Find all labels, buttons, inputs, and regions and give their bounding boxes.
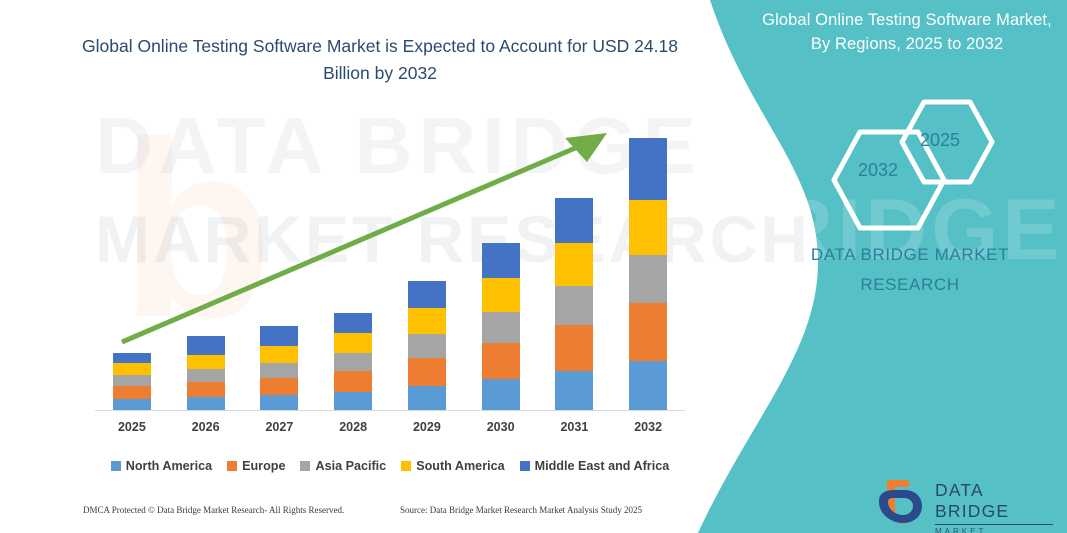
x-axis-label-2030: 2030 (471, 420, 531, 434)
bar-segment (187, 369, 225, 382)
x-axis-label-2025: 2025 (102, 420, 162, 434)
bar-segment (187, 336, 225, 355)
chart-legend: North AmericaEuropeAsia PacificSouth Ame… (95, 455, 685, 477)
legend-item[interactable]: Middle East and Africa (520, 459, 670, 473)
bar-segment (408, 281, 446, 308)
bar-segment (334, 333, 372, 353)
bar-segment (260, 363, 298, 378)
x-axis-label-2029: 2029 (397, 420, 457, 434)
legend-label: Europe (242, 459, 285, 473)
footer-copyright: DMCA Protected © Data Bridge Market Rese… (83, 505, 344, 515)
x-axis-label-2028: 2028 (323, 420, 383, 434)
bar-segment (482, 278, 520, 312)
bar-segment (260, 378, 298, 395)
logo-text: DATA BRIDGE MARKET RESEARCH (935, 480, 1055, 533)
logo-mark-icon (875, 478, 931, 524)
panel-title: Global Online Testing Software Market, B… (757, 8, 1057, 56)
x-axis-label-2026: 2026 (176, 420, 236, 434)
x-axis-label-2032: 2032 (618, 420, 678, 434)
bar-segment (482, 312, 520, 343)
bar-segment (482, 379, 520, 410)
bar-segment (555, 325, 593, 371)
bar-2028 (334, 313, 372, 410)
x-axis-line (95, 410, 685, 411)
bar-segment (187, 355, 225, 369)
bar-segment (482, 243, 520, 278)
bar-2032 (629, 138, 667, 410)
bar-segment (629, 361, 667, 410)
bar-2030 (482, 243, 520, 410)
legend-item[interactable]: South America (401, 459, 504, 473)
bar-segment (408, 308, 446, 334)
bar-segment (408, 334, 446, 358)
legend-label: South America (416, 459, 504, 473)
infographic-root: BRIDGE Global Online Testing Software Ma… (0, 0, 1067, 533)
footer-source: Source: Data Bridge Market Research Mark… (400, 505, 642, 515)
bar-segment (408, 386, 446, 410)
data-bridge-logo: DATA BRIDGE MARKET RESEARCH (875, 478, 1055, 526)
bar-segment (260, 346, 298, 363)
brand-name: DATA BRIDGE MARKET RESEARCH (770, 240, 1050, 300)
bar-segment (187, 382, 225, 397)
stacked-bar-plot (95, 110, 685, 410)
logo-divider (935, 524, 1053, 525)
logo-title: DATA BRIDGE (935, 480, 1055, 522)
x-axis-label-2027: 2027 (249, 420, 309, 434)
legend-item[interactable]: Europe (227, 459, 285, 473)
bar-segment (334, 353, 372, 371)
legend-swatch-icon (300, 461, 310, 471)
bar-2029 (408, 281, 446, 410)
bar-segment (408, 358, 446, 386)
bar-segment (187, 397, 225, 410)
brand-line-1: DATA BRIDGE MARKET (770, 240, 1050, 270)
bar-segment (113, 363, 151, 375)
x-axis-label-2031: 2031 (544, 420, 604, 434)
bar-2027 (260, 326, 298, 410)
bar-segment (629, 200, 667, 255)
legend-swatch-icon (227, 461, 237, 471)
legend-label: Asia Pacific (315, 459, 386, 473)
legend-label: North America (126, 459, 212, 473)
bar-segment (260, 326, 298, 346)
bar-segment (629, 255, 667, 303)
bar-segment (555, 371, 593, 410)
bar-segment (334, 392, 372, 410)
bar-segment (113, 399, 151, 410)
hexagon-group: 2032 2025 (830, 98, 1000, 218)
legend-swatch-icon (401, 461, 411, 471)
bar-segment (113, 375, 151, 386)
bar-segment (113, 353, 151, 363)
hexagon-2032-label: 2032 (858, 160, 898, 181)
bar-segment (629, 303, 667, 361)
bar-segment (113, 386, 151, 399)
bar-segment (334, 313, 372, 333)
legend-swatch-icon (520, 461, 530, 471)
bar-segment (260, 395, 298, 410)
bar-segment (555, 286, 593, 325)
brand-line-2: RESEARCH (770, 270, 1050, 300)
bar-segment (334, 371, 372, 392)
bar-segment (482, 343, 520, 379)
bar-segment (555, 198, 593, 243)
bar-2031 (555, 198, 593, 410)
legend-item[interactable]: Asia Pacific (300, 459, 386, 473)
legend-label: Middle East and Africa (535, 459, 670, 473)
bar-segment (555, 243, 593, 286)
logo-subtitle: MARKET RESEARCH (935, 527, 1055, 533)
bar-2025 (113, 353, 151, 410)
footer: DMCA Protected © Data Bridge Market Rese… (0, 505, 700, 527)
bar-2026 (187, 336, 225, 410)
x-axis-labels: 20252026202720282029203020312032 (95, 420, 685, 442)
chart-title: Global Online Testing Software Market is… (60, 33, 700, 87)
legend-swatch-icon (111, 461, 121, 471)
legend-item[interactable]: North America (111, 459, 212, 473)
hexagon-2025-label: 2025 (920, 130, 960, 151)
bar-segment (629, 138, 667, 200)
